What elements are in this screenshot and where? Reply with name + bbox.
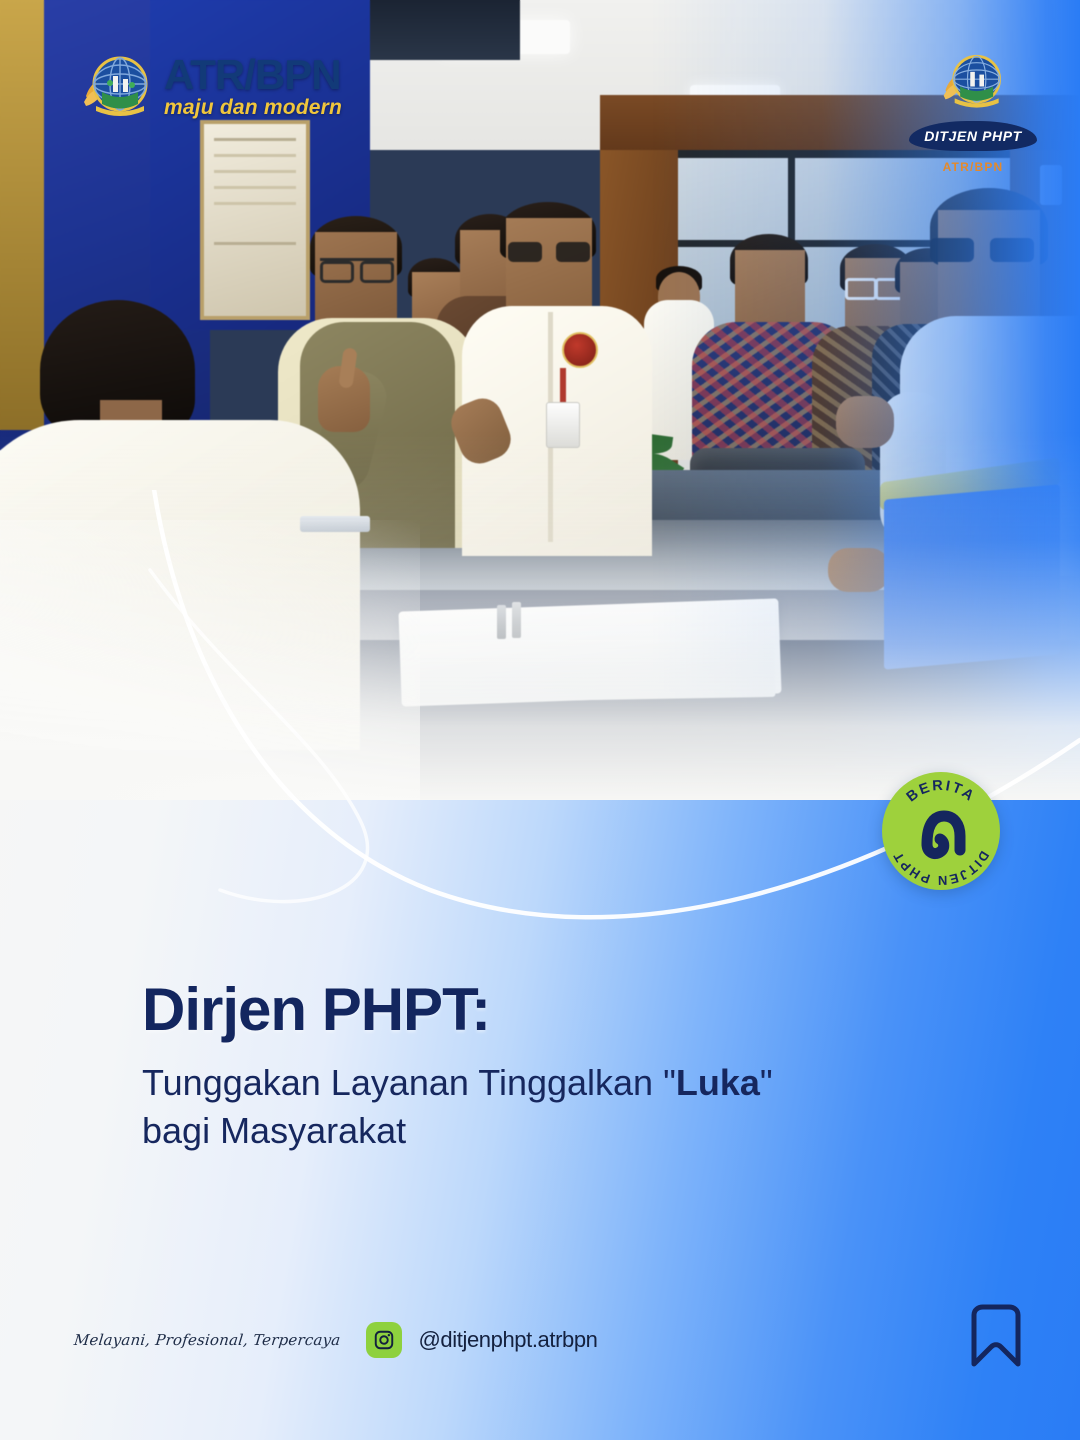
subtitle-line2: bagi Masyarakat bbox=[142, 1110, 406, 1151]
headline-subtitle: Tunggakan Layanan Tinggalkan "Luka" bagi… bbox=[142, 1059, 942, 1155]
berita-badge[interactable]: BERITA DITJEN PHPT bbox=[882, 772, 1000, 890]
atr-bpn-logo: ATR/BPN maju dan modern bbox=[80, 50, 342, 122]
photo-fade-left bbox=[0, 520, 420, 800]
tagline: Melayani, Profesional, Terpercaya bbox=[73, 1331, 341, 1349]
instagram-icon[interactable] bbox=[366, 1322, 402, 1358]
social-block[interactable]: @ditjenphpt.atrbpn bbox=[366, 1322, 597, 1358]
ditjen-phpt-sub-text: ATR/BPN bbox=[943, 160, 1004, 174]
ditjen-phpt-ribbon-text: DITJEN PHPT bbox=[924, 128, 1022, 144]
curved-hook-glyph-icon bbox=[882, 772, 1000, 890]
subtitle-highlight: Luka bbox=[676, 1062, 760, 1103]
subtitle-line1-before: Tunggakan Layanan Tinggalkan " bbox=[142, 1062, 676, 1103]
page-title: Dirjen PHPT: bbox=[142, 978, 942, 1041]
ditjen-phpt-globe-emblem-icon bbox=[940, 48, 1006, 119]
instagram-handle[interactable]: @ditjenphpt.atrbpn bbox=[418, 1327, 597, 1353]
atr-bpn-globe-emblem-icon bbox=[80, 50, 152, 122]
bookmark-icon[interactable] bbox=[964, 1302, 1028, 1374]
ditjen-phpt-logo: DITJEN PHPT ATR/BPN bbox=[908, 48, 1038, 174]
footer-bar: Melayani, Profesional, Terpercaya @ditje… bbox=[74, 1322, 598, 1358]
ditjen-phpt-ribbon: DITJEN PHPT bbox=[909, 121, 1037, 151]
headline-block: Dirjen PHPT: Tunggakan Layanan Tinggalka… bbox=[142, 978, 942, 1155]
atr-bpn-slogan: maju dan modern bbox=[164, 97, 342, 118]
poster-canvas: ATR/BPN maju dan modern DITJEN PHPT bbox=[0, 0, 1080, 1440]
subtitle-line1-after: " bbox=[760, 1062, 773, 1103]
atr-bpn-wordmark: ATR/BPN bbox=[164, 54, 342, 96]
